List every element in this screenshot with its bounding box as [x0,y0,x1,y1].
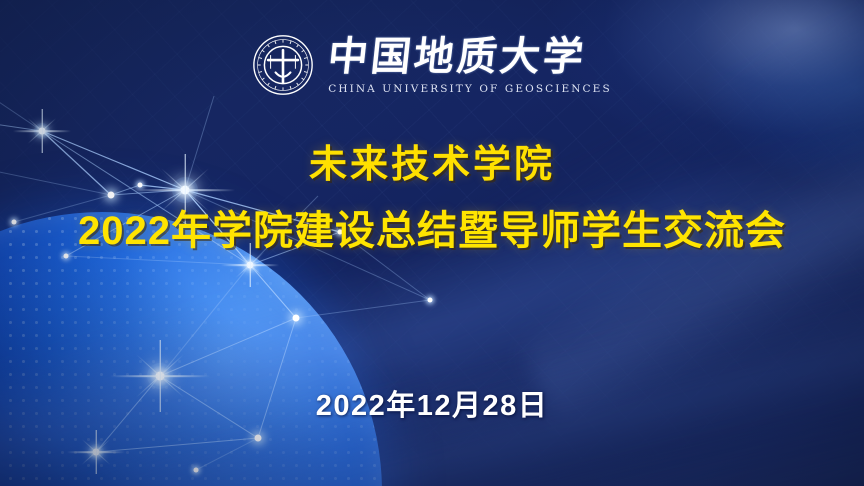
university-logo: 中国地质大学 CHINA UNIVERSITY OF GEOSCIENCES [252,34,612,96]
page-title: 未来技术学院 [0,142,864,190]
slide-content: 中国地质大学 CHINA UNIVERSITY OF GEOSCIENCES 未… [0,0,864,486]
university-name-block: 中国地质大学 CHINA UNIVERSITY OF GEOSCIENCES [328,36,612,95]
university-seal-icon [252,34,314,96]
university-name-en: CHINA UNIVERSITY OF GEOSCIENCES [328,83,612,95]
title-block: 未来技术学院 2022年学院建设总结暨导师学生交流会 [0,142,864,256]
university-name-cn: 中国地质大学 [326,36,588,78]
page-subtitle: 2022年学院建设总结暨导师学生交流会 [0,206,864,256]
title-slide: 中国地质大学 CHINA UNIVERSITY OF GEOSCIENCES 未… [0,0,864,486]
slide-date: 2022年12月28日 [0,382,864,424]
